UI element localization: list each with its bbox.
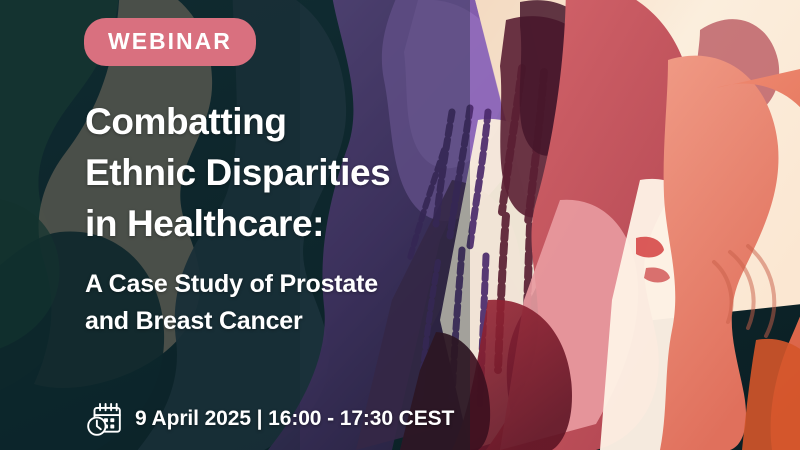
webinar-banner: WEBINAR Combatting Ethnic Disparities in… bbox=[0, 0, 800, 450]
title-line-1: Combatting bbox=[85, 96, 520, 147]
schedule-text: 9 April 2025 | 16:00 - 17:30 CEST bbox=[135, 407, 454, 431]
title-line-2: Ethnic Disparities bbox=[85, 147, 520, 198]
page-subtitle: A Case Study of Prostate and Breast Canc… bbox=[85, 266, 520, 339]
schedule-bar: 9 April 2025 | 16:00 - 17:30 CEST bbox=[85, 400, 454, 438]
calendar-clock-icon bbox=[85, 400, 123, 438]
subtitle-line-1: A Case Study of Prostate bbox=[85, 266, 520, 303]
page-title: Combatting Ethnic Disparities in Healthc… bbox=[85, 96, 520, 249]
title-line-3: in Healthcare: bbox=[85, 198, 520, 249]
subtitle-line-2: and Breast Cancer bbox=[85, 303, 520, 340]
webinar-badge: WEBINAR bbox=[84, 18, 256, 66]
